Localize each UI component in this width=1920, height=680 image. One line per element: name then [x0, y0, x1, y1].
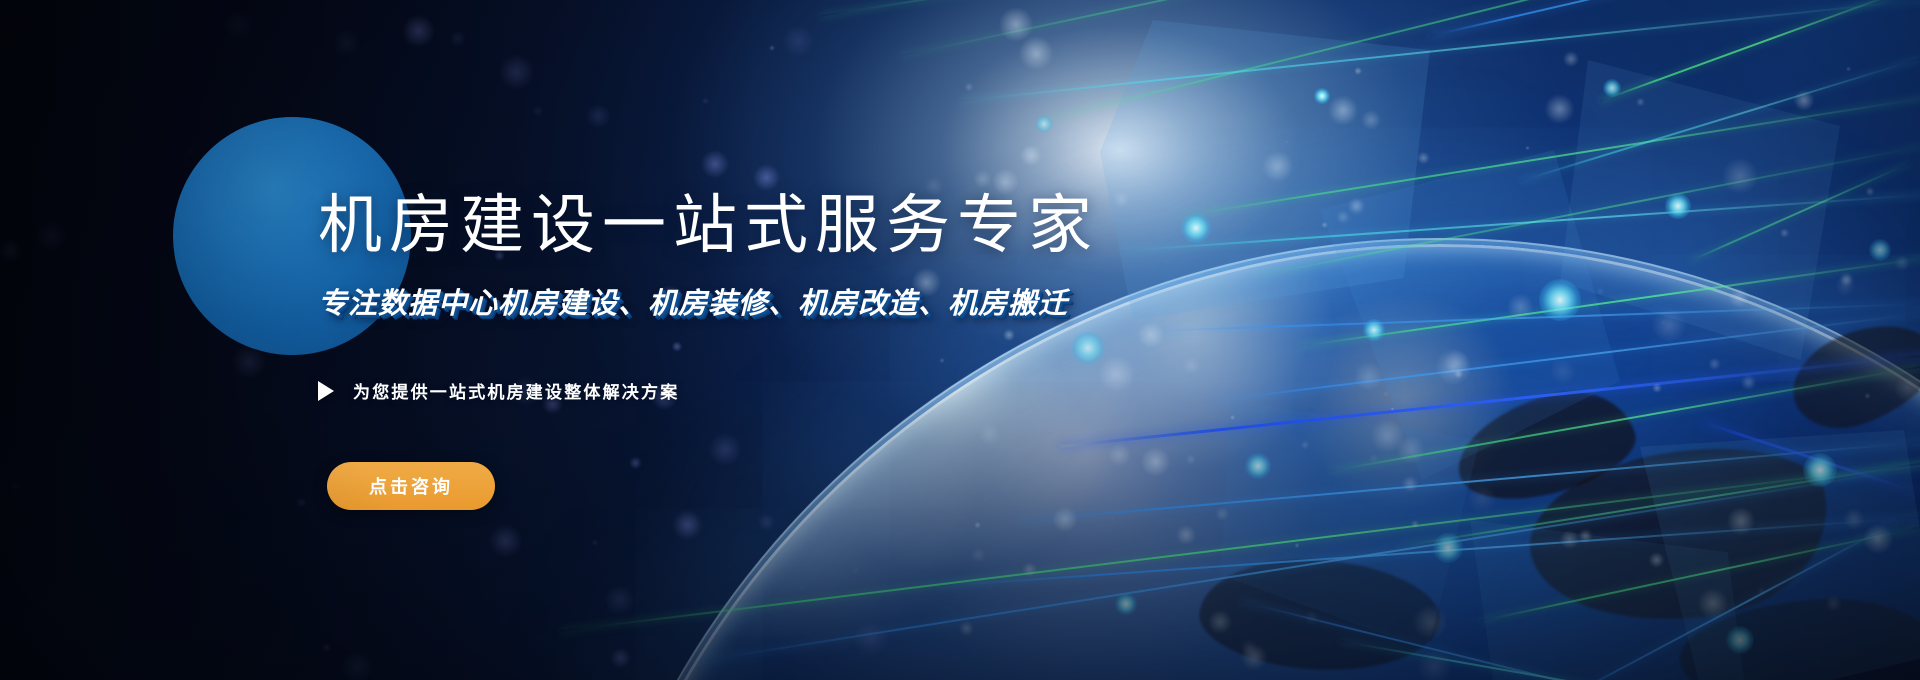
banner-tagline-label: 为您提供一站式机房建设整体解决方案: [353, 378, 679, 403]
play-triangle-icon: [318, 381, 334, 401]
banner-content: 机房建设一站式服务专家 专注数据中心机房建设、机房装修、机房改造、机房搬迁 为您…: [0, 0, 1920, 680]
banner-subheadline: 专注数据中心机房建设、机房装修、机房改造、机房搬迁: [318, 290, 1068, 319]
consult-cta-button[interactable]: 点击咨询: [327, 462, 495, 510]
hero-banner: 机房建设一站式服务专家 专注数据中心机房建设、机房装修、机房改造、机房搬迁 为您…: [0, 0, 1920, 680]
banner-headline: 机房建设一站式服务专家: [318, 193, 1099, 257]
banner-tagline: 为您提供一站式机房建设整体解决方案: [318, 378, 679, 403]
